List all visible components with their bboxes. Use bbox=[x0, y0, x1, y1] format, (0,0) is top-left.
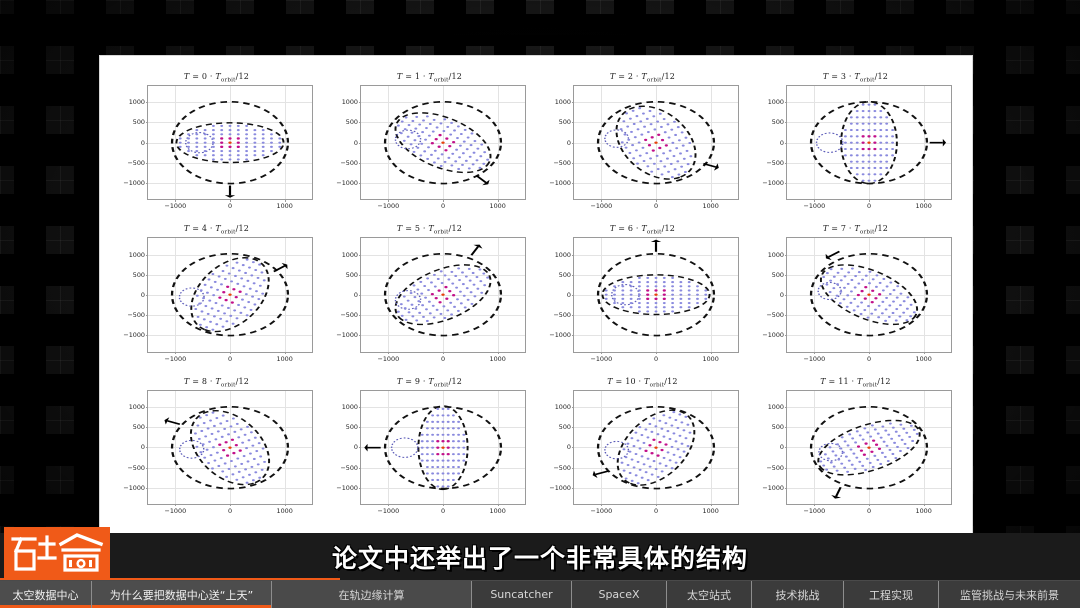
swarm-dot bbox=[687, 445, 690, 447]
swarm-dot bbox=[436, 479, 439, 481]
x-tick-label: −1000 bbox=[804, 507, 826, 515]
subplot-10: T = 10 · Torbit/12−100001000−1000−500050… bbox=[536, 375, 749, 527]
swarm-dot bbox=[457, 420, 460, 422]
swarm-dot bbox=[217, 310, 220, 312]
swarm-dot bbox=[650, 430, 653, 432]
swarm-dot bbox=[236, 457, 239, 459]
y-tick-label: 500 bbox=[346, 118, 358, 126]
x-tick-label: 1000 bbox=[916, 202, 932, 210]
swarm-dot bbox=[424, 139, 427, 141]
swarm-core-dot bbox=[452, 141, 455, 143]
swarm-dot bbox=[244, 272, 247, 274]
swarm-dot bbox=[245, 129, 248, 131]
y-tick-label: −1000 bbox=[762, 179, 784, 187]
swarm-dot bbox=[630, 294, 633, 296]
y-tick-label: 500 bbox=[559, 423, 571, 431]
swarm-core-dot bbox=[652, 438, 655, 440]
swarm-dot bbox=[447, 466, 450, 468]
swarm-dot bbox=[414, 128, 417, 130]
swarm-dot bbox=[476, 148, 479, 150]
swarm-dot bbox=[187, 137, 190, 139]
y-tick-label: −1000 bbox=[549, 179, 571, 187]
swarm-dot bbox=[270, 146, 273, 148]
chapter-item-1[interactable]: 为什么要把数据中心送“上天” bbox=[92, 581, 272, 608]
swarm-dot bbox=[476, 288, 479, 290]
swarm-dot bbox=[668, 136, 671, 138]
swarm-dot bbox=[666, 158, 669, 160]
swarm-dot bbox=[278, 142, 281, 144]
swarm-dot bbox=[220, 284, 223, 286]
swarm-dot bbox=[431, 440, 434, 442]
swarm-dot bbox=[837, 272, 840, 274]
swarm-dot bbox=[879, 110, 882, 112]
swarm-dot bbox=[879, 123, 882, 125]
swarm-dot bbox=[432, 131, 435, 133]
swarm-dot bbox=[195, 129, 198, 131]
subplot-axes: −100001000−1000−50005001000 bbox=[573, 390, 739, 505]
swarm-dot bbox=[219, 422, 222, 424]
subplot-canvas bbox=[361, 238, 525, 351]
swarm-dot bbox=[431, 414, 434, 416]
swarm-core-dot bbox=[438, 301, 441, 303]
swarm-dot bbox=[454, 160, 457, 162]
swarm-dot bbox=[242, 476, 245, 478]
satellite-swarm bbox=[844, 104, 894, 182]
swarm-dot bbox=[431, 459, 434, 461]
swarm-dot bbox=[655, 311, 658, 313]
swarm-dot bbox=[848, 433, 851, 435]
swarm-dot bbox=[210, 454, 213, 456]
chapter-item-8[interactable]: 监管挑战与未来前景 bbox=[939, 581, 1080, 608]
swarm-dot bbox=[419, 281, 422, 283]
swarm-core-dot bbox=[222, 291, 225, 293]
subplot-grid: T = 0 · Torbit/12−100001000−1000−5000500… bbox=[100, 56, 972, 533]
swarm-dot bbox=[902, 312, 905, 314]
swarm-dot bbox=[647, 436, 650, 438]
swarm-center-dot bbox=[867, 141, 870, 143]
swarm-dot bbox=[238, 470, 241, 472]
swarm-dot bbox=[913, 428, 916, 430]
swarm-dot bbox=[627, 442, 630, 444]
swarm-dot bbox=[621, 286, 624, 288]
swarm-dot bbox=[466, 148, 469, 150]
swarm-dot bbox=[212, 137, 215, 139]
y-tick-label: 0 bbox=[780, 443, 784, 451]
swarm-dot bbox=[431, 466, 434, 468]
swarm-core-dot bbox=[237, 137, 240, 139]
swarm-dot bbox=[671, 290, 674, 292]
swarm-core-dot bbox=[862, 148, 865, 150]
swarm-dot bbox=[643, 463, 646, 465]
swarm-dot bbox=[462, 283, 465, 285]
swarm-dot bbox=[704, 290, 707, 292]
swarm-dot bbox=[254, 471, 257, 473]
swarm-dot bbox=[829, 446, 832, 448]
swarm-dot bbox=[639, 120, 642, 122]
swarm-dot bbox=[670, 424, 673, 426]
swarm-dot bbox=[426, 433, 429, 435]
swarm-dot bbox=[862, 161, 865, 163]
swarm-dot bbox=[850, 448, 853, 450]
swarm-dot bbox=[641, 455, 644, 457]
swarm-dot bbox=[278, 146, 281, 148]
swarm-dot bbox=[860, 313, 863, 315]
swarm-core-dot bbox=[860, 449, 863, 451]
swarm-dot bbox=[822, 276, 825, 278]
swarm-dot bbox=[669, 459, 672, 461]
swarm-dot bbox=[428, 301, 431, 303]
swarm-dot bbox=[868, 167, 871, 169]
swarm-dot bbox=[676, 427, 679, 429]
swarm-dot bbox=[681, 131, 684, 133]
direction-arrow bbox=[274, 263, 288, 272]
swarm-dot bbox=[243, 455, 246, 457]
swarm-dot bbox=[470, 144, 473, 146]
swarm-core-dot bbox=[663, 298, 666, 300]
swarm-dot bbox=[905, 319, 908, 321]
swarm-dot bbox=[278, 137, 281, 139]
swarm-dot bbox=[851, 463, 854, 465]
swarm-dot bbox=[630, 307, 633, 309]
swarm-dot bbox=[411, 120, 414, 122]
swarm-dot bbox=[850, 148, 853, 150]
swarm-dot bbox=[250, 431, 253, 433]
swarm-dot bbox=[845, 455, 848, 457]
swarm-dot bbox=[442, 466, 445, 468]
swarm-dot bbox=[613, 286, 616, 288]
swarm-dot bbox=[220, 457, 223, 459]
swarm-dot bbox=[426, 420, 429, 422]
swarm-dot bbox=[211, 273, 214, 275]
swarm-dot bbox=[646, 286, 649, 288]
y-tick-label: −500 bbox=[127, 159, 145, 167]
swarm-dot bbox=[459, 291, 462, 293]
swarm-dot bbox=[457, 466, 460, 468]
swarm-dot bbox=[230, 460, 233, 462]
swarm-dot bbox=[664, 131, 667, 133]
swarm-dot bbox=[899, 423, 902, 425]
swarm-dot bbox=[187, 150, 190, 152]
swarm-dot bbox=[911, 440, 914, 442]
swarm-dot bbox=[621, 290, 624, 292]
swarm-dot bbox=[877, 432, 880, 434]
swarm-dot bbox=[885, 129, 888, 131]
swarm-dot bbox=[237, 150, 240, 152]
swarm-core-dot bbox=[874, 297, 877, 299]
swarm-dot bbox=[431, 427, 434, 429]
swarm-dot bbox=[896, 446, 899, 448]
swarm-dot bbox=[245, 133, 248, 135]
swarm-core-dot bbox=[857, 294, 860, 296]
swarm-dot bbox=[204, 137, 207, 139]
swarm-dot bbox=[220, 158, 223, 160]
swarm-dot bbox=[427, 289, 430, 291]
swarm-dot bbox=[212, 411, 215, 413]
swarm-dot bbox=[679, 281, 682, 283]
swarm-dot bbox=[696, 286, 699, 288]
swarm-dot bbox=[472, 163, 475, 165]
swarm-dot bbox=[856, 123, 859, 125]
swarm-dot bbox=[415, 320, 418, 322]
chapter-item-4[interactable]: SpaceX bbox=[572, 581, 667, 608]
swarm-dot bbox=[257, 277, 260, 279]
swarm-dot bbox=[483, 151, 486, 153]
swarm-dot bbox=[472, 272, 475, 274]
swarm-dot bbox=[646, 311, 649, 313]
swarm-dot bbox=[873, 123, 876, 125]
swarm-dot bbox=[225, 321, 228, 323]
swarm-dot bbox=[630, 131, 633, 133]
swarm-dot bbox=[880, 436, 883, 438]
y-tick-label: −500 bbox=[340, 464, 358, 472]
swarm-center-dot bbox=[228, 141, 231, 143]
swarm-dot bbox=[244, 468, 247, 470]
subplot-canvas bbox=[148, 391, 312, 504]
swarm-center-dot bbox=[441, 446, 444, 448]
swarm-dot bbox=[424, 297, 427, 299]
swarm-dot bbox=[874, 309, 877, 311]
swarm-dot bbox=[447, 459, 450, 461]
y-tick-label: 1000 bbox=[768, 251, 784, 259]
swarm-core-dot bbox=[657, 134, 660, 136]
swarm-dot bbox=[844, 129, 847, 131]
swarm-dot bbox=[895, 308, 898, 310]
y-tick-label: −500 bbox=[766, 464, 784, 472]
swarm-core-dot bbox=[438, 146, 441, 148]
swarm-dot bbox=[646, 281, 649, 283]
swarm-dot bbox=[679, 434, 682, 436]
swarm-dot bbox=[638, 294, 641, 296]
x-tick-label: 1000 bbox=[490, 355, 506, 363]
swarm-dot bbox=[426, 158, 429, 160]
swarm-dot bbox=[675, 461, 678, 463]
swarm-dot bbox=[447, 279, 450, 281]
swarm-dot bbox=[634, 136, 637, 138]
swarm-dot bbox=[684, 415, 687, 417]
subplot-0: T = 0 · Torbit/12−100001000−1000−5000500… bbox=[110, 70, 323, 222]
swarm-dot bbox=[830, 268, 833, 270]
swarm-dot bbox=[417, 300, 420, 302]
swarm-dot bbox=[460, 303, 463, 305]
swarm-dot bbox=[457, 472, 460, 474]
swarm-dot bbox=[237, 158, 240, 160]
swarm-dot bbox=[688, 298, 691, 300]
swarm-dot bbox=[899, 316, 902, 318]
swarm-dot bbox=[262, 154, 265, 156]
swarm-dot bbox=[621, 281, 624, 283]
subplot-title: T = 9 · Torbit/12 bbox=[323, 377, 536, 389]
swarm-dot bbox=[626, 126, 629, 128]
subplot-title: T = 2 · Torbit/12 bbox=[536, 72, 749, 84]
swarm-dot bbox=[663, 307, 666, 309]
swarm-center-dot bbox=[228, 294, 231, 296]
swarm-dot bbox=[247, 460, 250, 462]
swarm-dot bbox=[844, 440, 847, 442]
swarm-dot bbox=[894, 457, 897, 459]
chapter-item-0[interactable]: 太空数据中心 bbox=[0, 581, 92, 608]
swarm-dot bbox=[246, 315, 249, 317]
swarm-dot bbox=[853, 310, 856, 312]
swarm-core-dot bbox=[228, 137, 231, 139]
swarm-dot bbox=[442, 459, 445, 461]
swarm-dot bbox=[179, 137, 182, 139]
swarm-dot bbox=[252, 261, 255, 263]
swarm-dot bbox=[907, 447, 910, 449]
swarm-dot bbox=[637, 482, 640, 484]
swarm-dot bbox=[840, 268, 843, 270]
swarm-dot bbox=[418, 312, 421, 314]
swarm-dot bbox=[236, 318, 239, 320]
swarm-dot bbox=[669, 150, 672, 152]
swarm-dot bbox=[194, 308, 197, 310]
swarm-dot bbox=[426, 472, 429, 474]
x-tick-label: −1000 bbox=[591, 202, 613, 210]
swarm-dot bbox=[246, 425, 249, 427]
swarm-dot bbox=[260, 272, 263, 274]
swarm-dot bbox=[243, 286, 246, 288]
swarm-dot bbox=[486, 277, 489, 279]
swarm-dot bbox=[236, 262, 239, 264]
swarm-core-dot bbox=[237, 146, 240, 148]
swarm-dot bbox=[236, 283, 239, 285]
x-tick-label: 1000 bbox=[703, 507, 719, 515]
swarm-dot bbox=[827, 457, 830, 459]
swarm-dot bbox=[668, 416, 671, 418]
swarm-dot bbox=[442, 306, 445, 308]
swarm-dot bbox=[891, 453, 894, 455]
swarm-dot bbox=[426, 320, 429, 322]
swarm-dot bbox=[902, 427, 905, 429]
swarm-dot bbox=[657, 433, 660, 435]
swarm-dot bbox=[209, 321, 212, 323]
swarm-dot bbox=[403, 296, 406, 298]
swarm-dot bbox=[644, 428, 647, 430]
swarm-dot bbox=[635, 474, 638, 476]
swarm-dot bbox=[844, 142, 847, 144]
swarm-dot bbox=[846, 306, 849, 308]
satellite-swarm bbox=[397, 268, 489, 323]
swarm-dot bbox=[482, 163, 485, 165]
swarm-core-dot bbox=[225, 299, 228, 301]
swarm-dot bbox=[625, 456, 628, 458]
x-tick-label: −1000 bbox=[165, 202, 187, 210]
swarm-dot bbox=[442, 408, 445, 410]
subplot-2: T = 2 · Torbit/12−100001000−1000−5000500… bbox=[536, 70, 749, 222]
swarm-dot bbox=[202, 297, 205, 299]
swarm-dot bbox=[879, 148, 882, 150]
swarm-dot bbox=[850, 129, 853, 131]
swarm-dot bbox=[212, 146, 215, 148]
swarm-dot bbox=[605, 290, 608, 292]
swarm-dot bbox=[258, 264, 261, 266]
guigu-101-logo-icon bbox=[9, 532, 105, 576]
swarm-dot bbox=[640, 134, 643, 136]
swarm-dot bbox=[856, 173, 859, 175]
chapter-item-3[interactable]: Suncatcher bbox=[472, 581, 572, 608]
direction-arrow bbox=[703, 163, 718, 170]
swarm-dot bbox=[667, 451, 670, 453]
swarm-dot bbox=[674, 419, 677, 421]
direction-arrow bbox=[471, 245, 482, 256]
swarm-dot bbox=[865, 275, 868, 277]
x-tick-label: 1000 bbox=[277, 507, 293, 515]
relative-motion-circle bbox=[605, 130, 629, 147]
swarm-dot bbox=[429, 123, 432, 125]
subplot-11: T = 11 · Torbit/12−100001000−1000−500050… bbox=[749, 375, 962, 527]
y-tick-label: 0 bbox=[780, 291, 784, 299]
swarm-dot bbox=[647, 131, 650, 133]
swarm-dot bbox=[460, 133, 463, 135]
swarm-dot bbox=[696, 298, 699, 300]
swarm-dot bbox=[436, 485, 439, 487]
swarm-dot bbox=[655, 277, 658, 279]
swarm-dot bbox=[854, 441, 857, 443]
swarm-dot bbox=[829, 291, 832, 293]
swarm-center-dot bbox=[867, 446, 870, 448]
subplot-canvas bbox=[148, 86, 312, 199]
swarm-dot bbox=[452, 453, 455, 455]
swarm-dot bbox=[262, 129, 265, 131]
swarm-dot bbox=[882, 290, 885, 292]
swarm-dot bbox=[471, 303, 474, 305]
swarm-dot bbox=[237, 125, 240, 127]
chapter-item-5[interactable]: 太空站式 bbox=[667, 581, 752, 608]
swarm-dot bbox=[242, 264, 245, 266]
swarm-dot bbox=[858, 271, 861, 273]
y-tick-label: 0 bbox=[780, 139, 784, 147]
x-tick-label: 1000 bbox=[277, 355, 293, 363]
swarm-dot bbox=[221, 305, 224, 307]
swarm-dot bbox=[627, 464, 630, 466]
subplot-title: T = 7 · Torbit/12 bbox=[749, 224, 962, 236]
swarm-core-dot bbox=[660, 449, 663, 451]
x-tick-label: −1000 bbox=[378, 355, 400, 363]
swarm-dot bbox=[895, 430, 898, 432]
chapter-item-6[interactable]: 技术挑战 bbox=[752, 581, 844, 608]
swarm-dot bbox=[470, 292, 473, 294]
swarm-dot bbox=[213, 459, 216, 461]
swarm-dot bbox=[225, 475, 228, 477]
swarm-dot bbox=[665, 464, 668, 466]
swarm-dot bbox=[704, 294, 707, 296]
swarm-dot bbox=[258, 476, 261, 478]
swarm-dot bbox=[486, 159, 489, 161]
swarm-dot bbox=[452, 433, 455, 435]
swarm-dot bbox=[841, 436, 844, 438]
swarm-dot bbox=[873, 104, 876, 106]
swarm-dot bbox=[862, 173, 865, 175]
swarm-dot bbox=[253, 154, 256, 156]
swarm-dot bbox=[452, 446, 455, 448]
swarm-dot bbox=[203, 319, 206, 321]
chapter-item-7[interactable]: 工程实现 bbox=[844, 581, 939, 608]
swarm-dot bbox=[466, 287, 469, 289]
subplot-canvas bbox=[787, 86, 951, 199]
swarm-dot bbox=[856, 154, 859, 156]
x-tick-label: −1000 bbox=[378, 507, 400, 515]
swarm-dot bbox=[234, 275, 237, 277]
swarm-dot bbox=[212, 150, 215, 152]
swarm-dot bbox=[212, 125, 215, 127]
swarm-core-dot bbox=[228, 146, 231, 148]
swarm-core-dot bbox=[452, 294, 455, 296]
swarm-dot bbox=[671, 176, 674, 178]
swarm-dot bbox=[262, 142, 265, 144]
swarm-dot bbox=[456, 137, 459, 139]
x-tick-label: 0 bbox=[867, 202, 871, 210]
swarm-dot bbox=[461, 164, 464, 166]
chapter-item-2[interactable]: 在轨边缘计算 bbox=[272, 581, 472, 608]
